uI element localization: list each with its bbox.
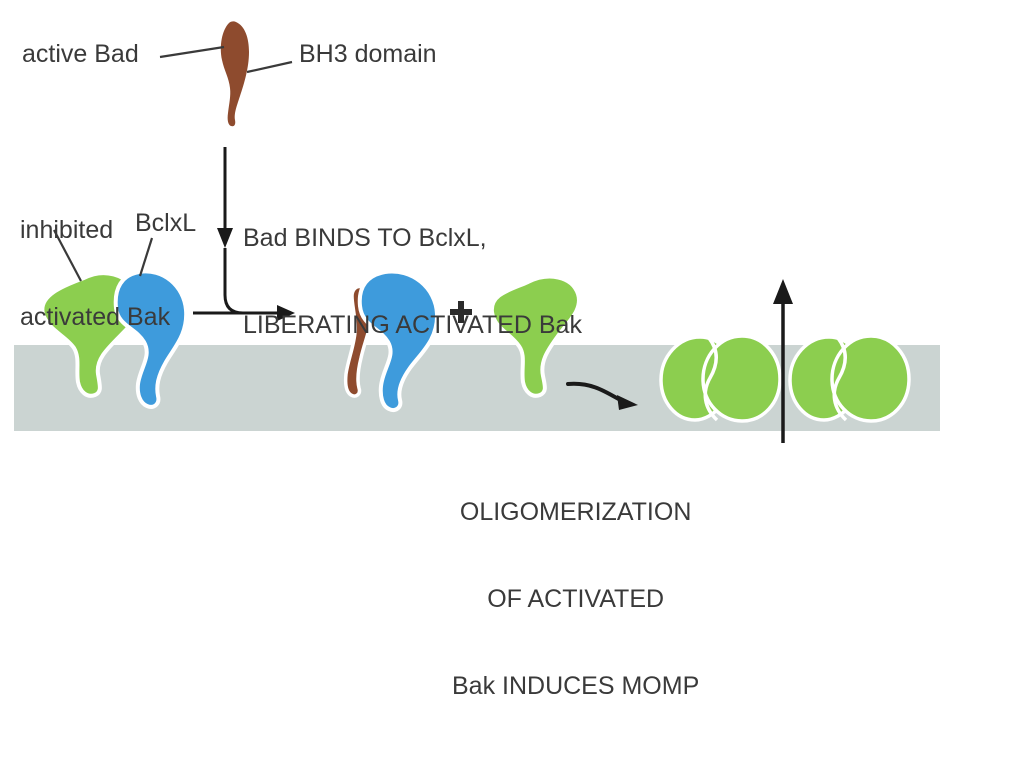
label-bclxl: BclxL — [135, 209, 196, 238]
label-active-bad: active Bad — [22, 40, 139, 69]
bak-oligomer-left — [661, 336, 780, 421]
label-inhibited-line2: activated Bak — [20, 303, 170, 332]
pathway-diagram: active Bad BH3 domain inhibited activate… — [0, 0, 1018, 584]
caption-line1: OLIGOMERIZATION — [452, 498, 699, 527]
label-binding-step-line1: Bad BINDS TO BclxL, — [243, 224, 582, 253]
label-bh3-domain: BH3 domain — [299, 40, 437, 69]
leader-line-bh3-domain — [247, 62, 292, 72]
leader-line-active-bad — [160, 47, 224, 57]
caption-line2: OF ACTIVATED — [452, 585, 699, 614]
binding-arrow — [217, 147, 243, 313]
label-oligomerization-caption: OLIGOMERIZATION OF ACTIVATED Bak INDUCES… — [452, 440, 699, 759]
label-binding-step-line2: LIBERATING ACTIVATED Bak — [243, 311, 582, 340]
caption-line3: Bak INDUCES MOMP — [452, 672, 699, 701]
bak-oligomer-right — [790, 336, 909, 421]
label-binding-step: Bad BINDS TO BclxL, LIBERATING ACTIVATED… — [243, 166, 582, 398]
label-inhibited-activated-bak: inhibited activated Bak — [20, 158, 170, 390]
active-bad-protein — [221, 21, 249, 126]
